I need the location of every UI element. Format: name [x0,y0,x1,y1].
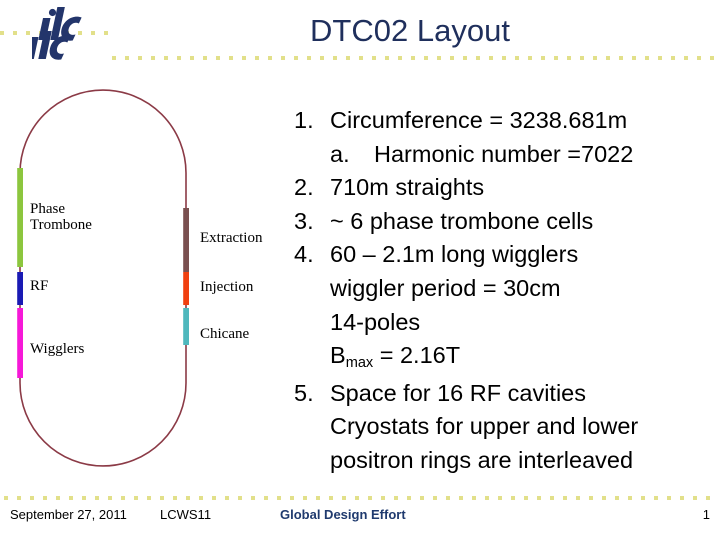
list-item-text: 14-poles [330,306,420,340]
segment-injection [183,272,189,305]
list-item-text: Cryostats for upper and lower [330,410,638,444]
slide-canvas: DTC02 Layout PhaseTrombone RF Wigglers E… [0,0,720,540]
list-item-marker: 2. [294,171,330,205]
list-item: 14-poles [294,306,714,340]
ring-label-phase-trombone: PhaseTrombone [30,201,92,233]
segment-wigglers [17,308,23,378]
dotted-rule-footer [4,496,718,500]
list-item-marker: 4. [294,238,330,272]
ring-label-injection: Injection [200,279,253,295]
list-item-marker: 5. [294,377,330,411]
dotted-rule-title [112,56,720,60]
list-item-text: Space for 16 RF cavities [330,377,586,411]
list-item: Cryostats for upper and lower [294,410,714,444]
list-item: wiggler period = 30cm [294,272,714,306]
list-item-text: Bmax = 2.16T [330,339,460,377]
list-item: 2.710m straights [294,171,714,205]
list-item: 3.~ 6 phase trombone cells [294,205,714,239]
page-title: DTC02 Layout [200,13,620,49]
list-item-text: ~ 6 phase trombone cells [330,205,593,239]
ring-label-extraction: Extraction [200,230,262,246]
subscript: max [346,355,374,371]
segment-extraction [183,208,189,272]
list-item: a.Harmonic number =7022 [294,138,714,172]
list-item: positron rings are interleaved [294,444,714,478]
ilc-logo-icon [32,4,118,62]
ring-label-rf: RF [30,278,48,294]
specification-list: 1.Circumference = 3238.681ma.Harmonic nu… [294,104,714,478]
list-item-text: Harmonic number =7022 [374,138,633,172]
list-item-text: wiggler period = 30cm [330,272,561,306]
ring-label-chicane: Chicane [200,326,249,342]
slide-footer: September 27, 2011 LCWS11 Global Design … [0,504,720,534]
list-item-marker: a. [330,138,374,172]
list-item-marker: 1. [294,104,330,138]
list-item: Bmax = 2.16T [294,339,714,377]
list-item-text: positron rings are interleaved [330,444,633,478]
list-item-text: 710m straights [330,171,484,205]
segment-phase-trombone [17,168,23,267]
ilc-logo [32,4,118,62]
ring-label-phase-trombone-line1: PhaseTrombone [30,201,92,233]
segment-rf [17,272,23,305]
footer-event: LCWS11 [160,507,211,522]
segment-chicane [183,308,189,345]
footer-org: Global Design Effort [280,507,406,522]
footer-date: September 27, 2011 [10,507,127,522]
list-item: 5.Space for 16 RF cavities [294,377,714,411]
list-item-text: 60 – 2.1m long wigglers [330,238,578,272]
list-item-marker: 3. [294,205,330,239]
list-item: 1.Circumference = 3238.681m [294,104,714,138]
footer-page-number: 1 [703,507,710,522]
dtc02-ring-diagram: PhaseTrombone RF Wigglers Extraction Inj… [0,78,290,488]
list-item-text: Circumference = 3238.681m [330,104,627,138]
ring-label-wigglers: Wigglers [30,341,84,357]
list-item: 4.60 – 2.1m long wigglers [294,238,714,272]
